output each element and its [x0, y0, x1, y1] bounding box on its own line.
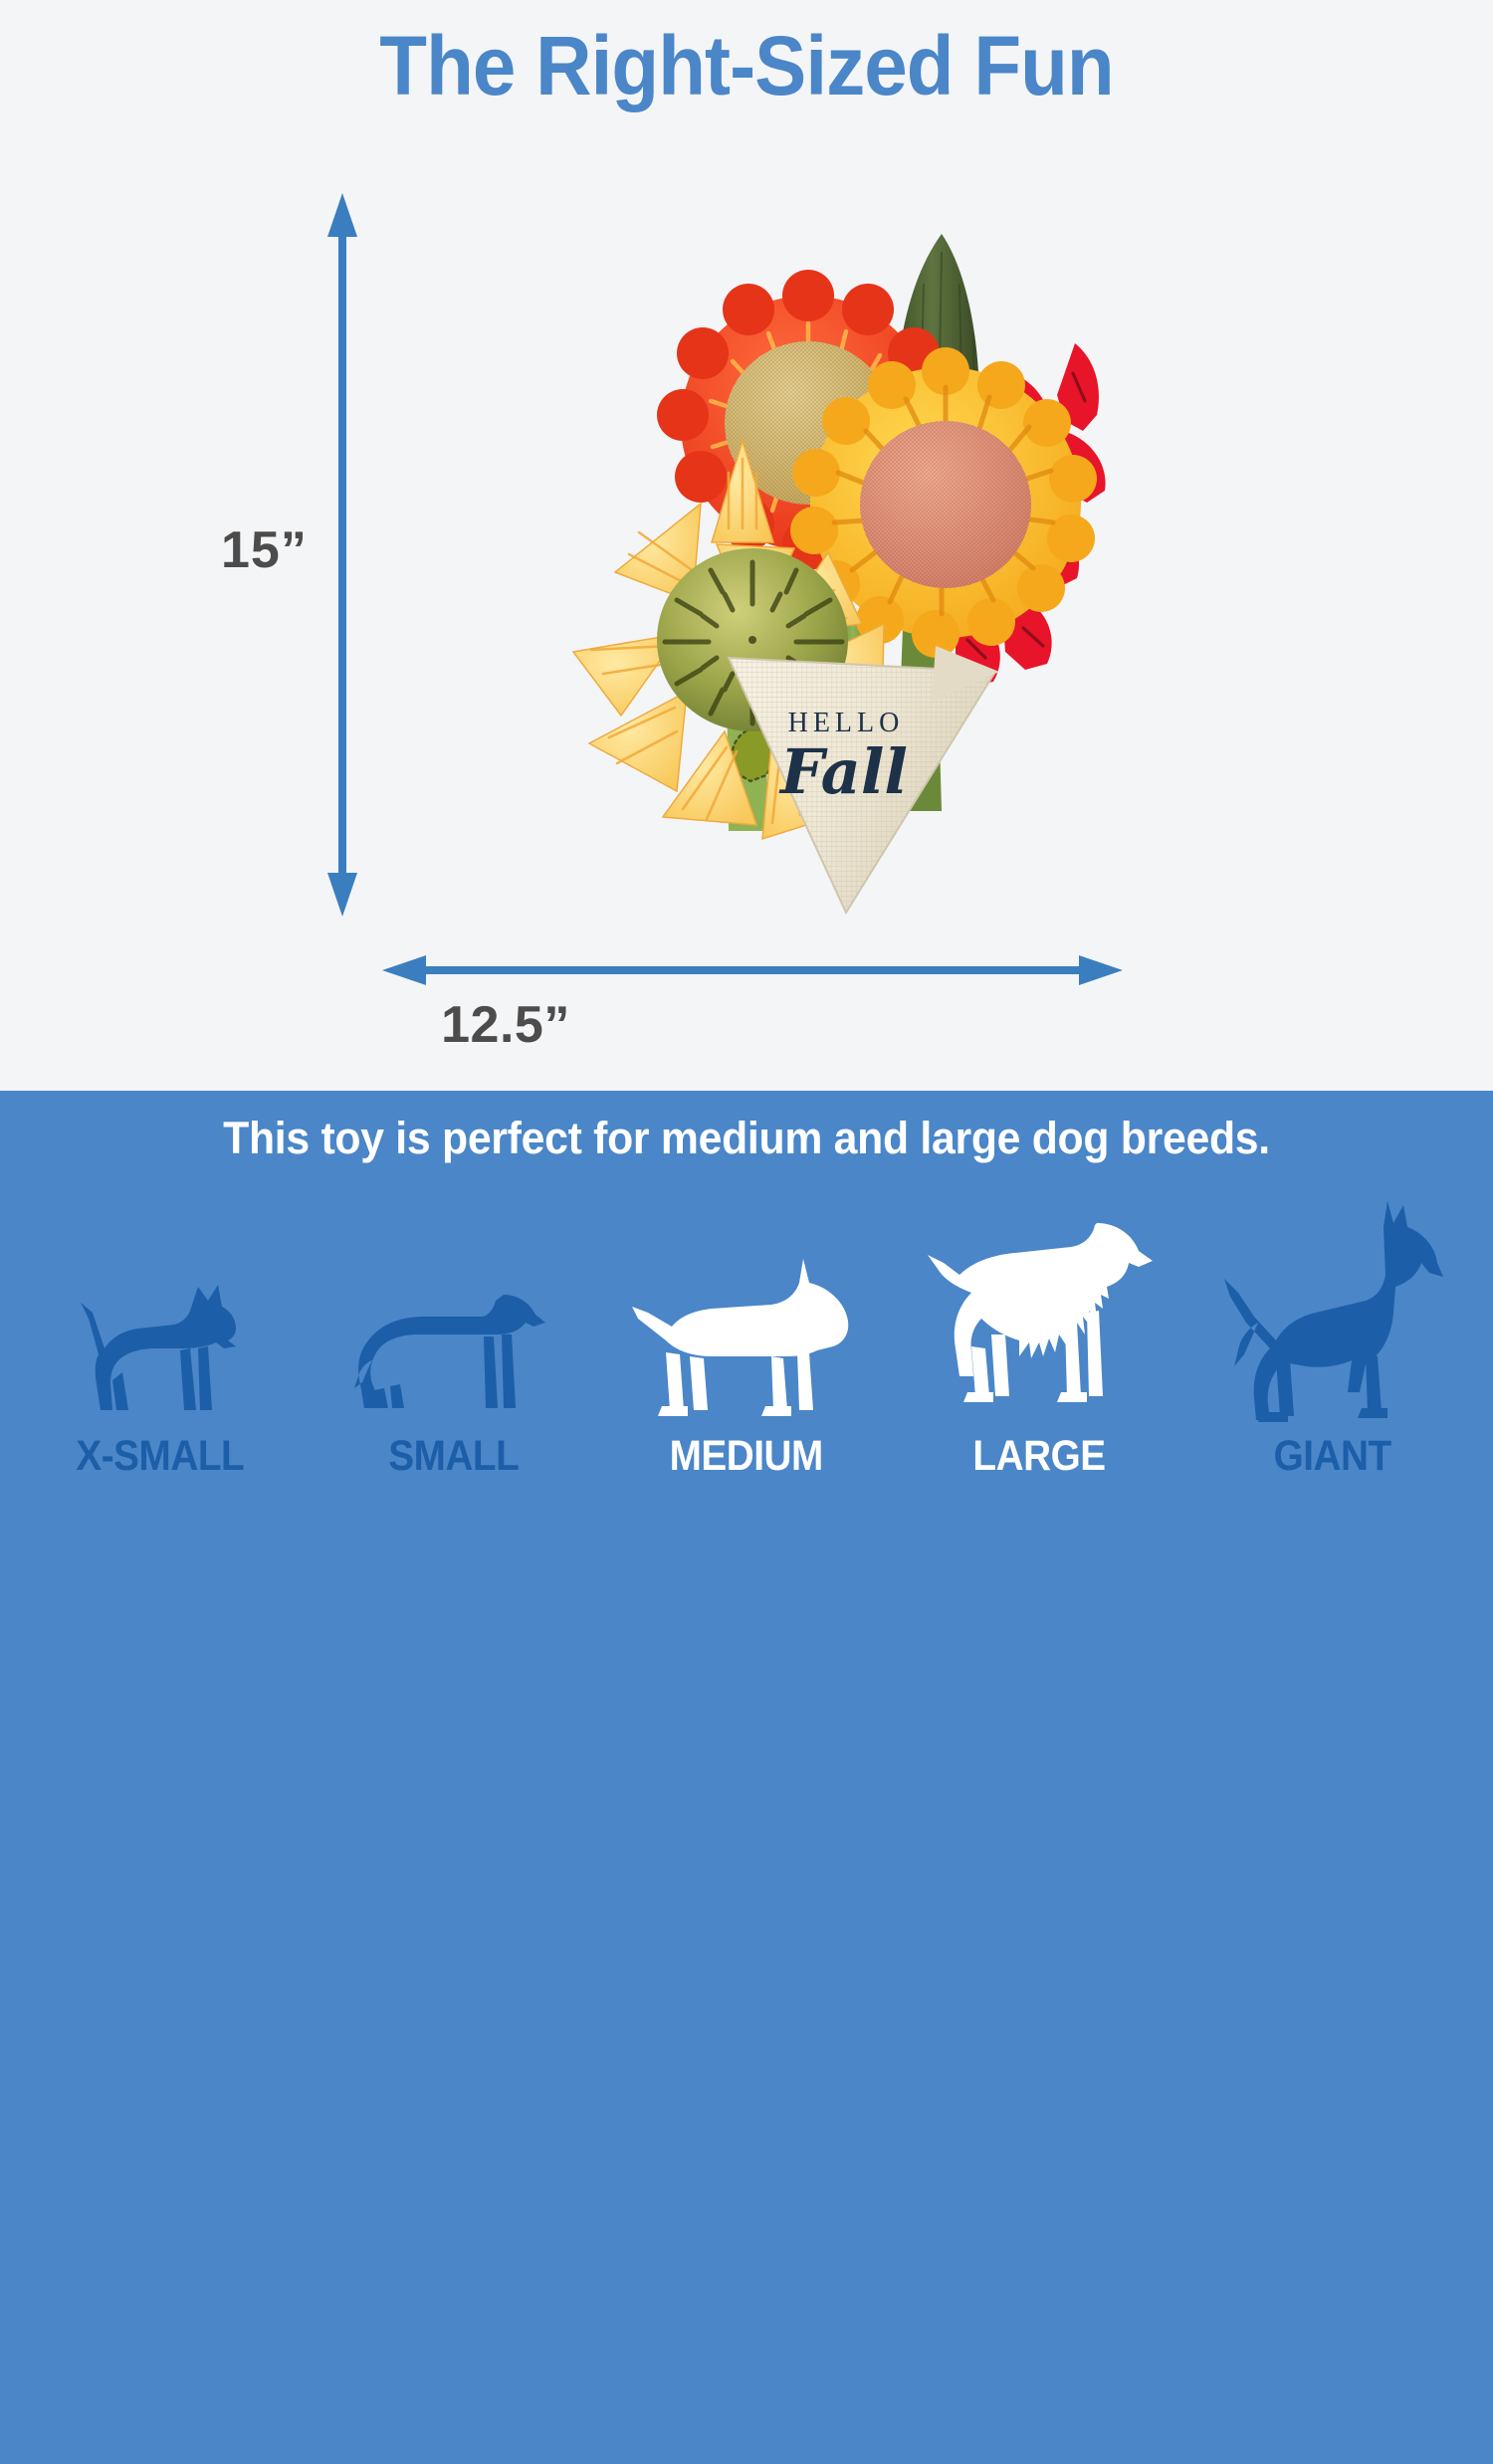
breed-item-small[interactable]: SMALL [307, 1277, 599, 1481]
bull-terrier-icon [632, 1247, 861, 1426]
breed-label: SMALL [388, 1432, 519, 1481]
height-label: 15” [221, 520, 308, 580]
page-title: The Right-Sized Fun [53, 24, 1441, 107]
breed-label: X-SMALL [77, 1432, 245, 1481]
breed-item-x-small[interactable]: X-SMALL [14, 1277, 307, 1481]
dachshund-icon [354, 1277, 553, 1426]
breed-size-banner: This toy is perfect for medium and large… [0, 1091, 1493, 2464]
breed-item-medium[interactable]: MEDIUM [600, 1247, 893, 1481]
golden-retriever-icon [920, 1217, 1159, 1426]
breed-item-large[interactable]: LARGE [893, 1217, 1185, 1481]
breed-label: LARGE [973, 1432, 1106, 1481]
breed-size-row: X-SMALL SMALL MEDIUM [0, 1182, 1493, 1481]
wrapper-fall-text: Fall [778, 735, 908, 808]
chihuahua-icon [71, 1277, 250, 1426]
height-dimension-arrow [324, 189, 360, 921]
infographic-canvas: The Right-Sized Fun 15” 12.5” [0, 0, 1493, 1493]
breed-label: GIANT [1274, 1432, 1391, 1481]
wrapper-hello-text: HELLO [788, 708, 905, 738]
breed-label: MEDIUM [670, 1432, 823, 1481]
width-dimension-arrow [378, 950, 1127, 990]
product-image: HELLO Fall [378, 174, 1135, 930]
breed-item-giant[interactable]: GIANT [1186, 1197, 1479, 1481]
great-dane-icon [1218, 1197, 1447, 1426]
banner-headline: This toy is perfect for medium and large… [38, 1113, 1456, 1164]
width-label: 12.5” [0, 995, 1252, 1055]
